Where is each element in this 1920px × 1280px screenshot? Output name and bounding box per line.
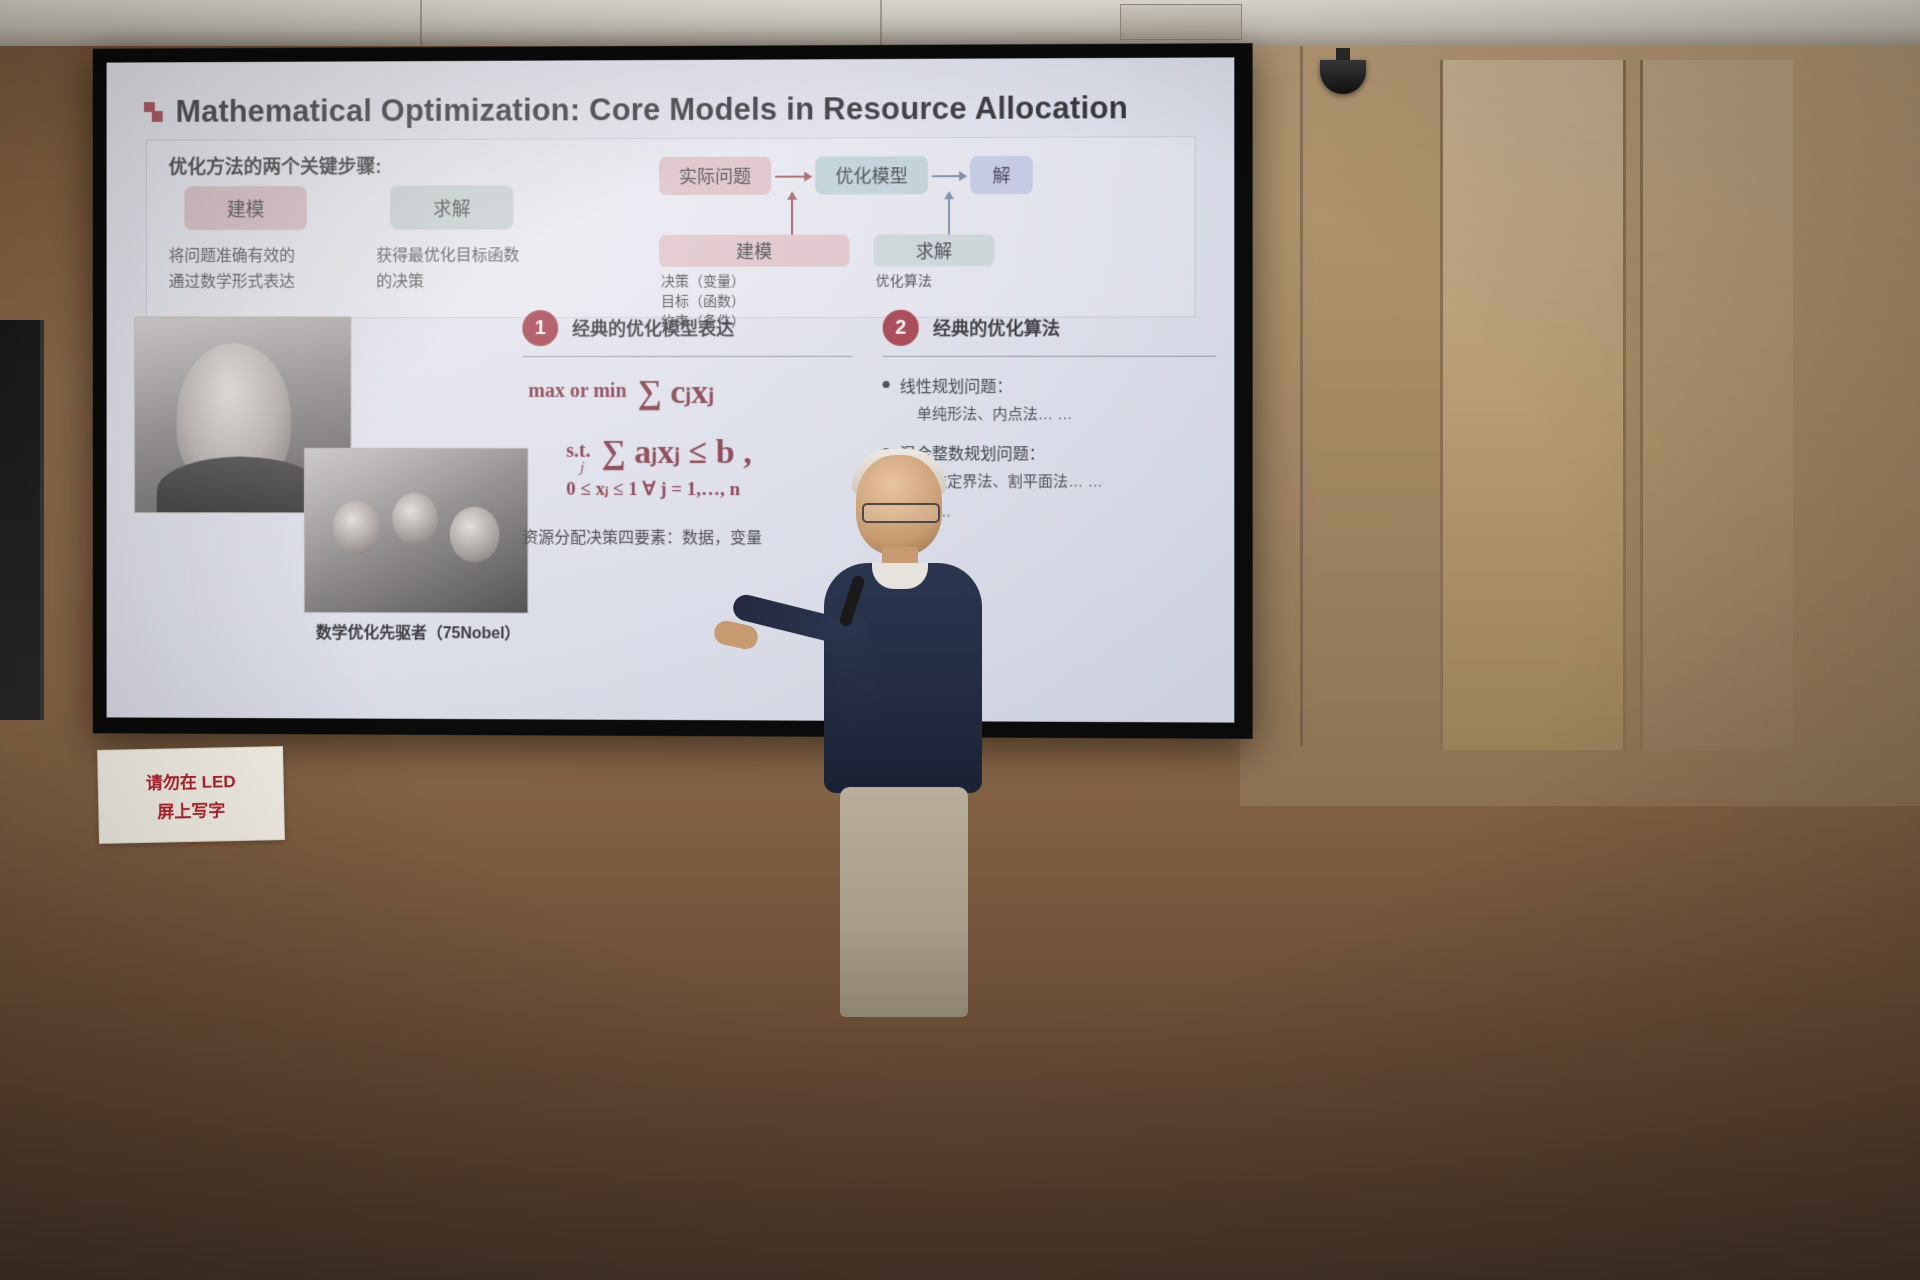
flow-node-real-problem: 实际问题: [659, 157, 771, 195]
slide-surface: Mathematical Optimization: Core Models i…: [107, 57, 1235, 722]
solving-description-line2: 的决策: [376, 269, 575, 295]
optimization-flow-diagram: 实际问题 优化模型 解 建模 求解 决策（变量） 目标（函数） 约束（条件）: [651, 145, 1234, 312]
photo-person-head: [450, 507, 500, 563]
wall-seam: [1300, 46, 1303, 746]
section1-heading-row: 1 经典的优化模型表达: [522, 310, 852, 346]
door-panel[interactable]: [1440, 60, 1626, 750]
slide-title: Mathematical Optimization: Core Models i…: [176, 90, 1129, 130]
flow-solve-item: 优化算法: [876, 271, 932, 291]
key-steps-panel: 优化方法的两个关键步骤: 建模 求解 将问题准确有效的 通过数学形式表达 获得最…: [146, 136, 1196, 318]
algorithm-bullet-title: 线性规划问题：: [900, 373, 1013, 397]
flow-node-solve: 求解: [874, 234, 995, 266]
bullet-dot-icon: [883, 381, 890, 388]
ceiling-seam: [420, 0, 422, 46]
section2-heading: 经典的优化算法: [933, 315, 1060, 341]
ceiling: [0, 0, 1920, 46]
section1-heading: 经典的优化模型表达: [572, 315, 734, 341]
flow-node-build: 建模: [659, 235, 849, 267]
modeling-description-line2: 通过数学形式表达: [169, 270, 357, 296]
key-steps-heading: 优化方法的两个关键步骤:: [169, 152, 382, 180]
title-bullet-icon: [144, 102, 162, 122]
algorithm-bullet-detail: 单纯形法、内点法… …: [917, 403, 1216, 424]
four-elements-text: 资源分配决策四要素：数据，变量: [522, 524, 762, 548]
flow-node-solution: 解: [970, 156, 1033, 194]
solving-description-line1: 获得最优化目标函数: [376, 243, 575, 269]
audience-foreground: [0, 760, 1920, 1280]
flow-arrow-problem-to-model: [775, 176, 811, 178]
solving-description: 获得最优化目标函数 的决策: [376, 243, 575, 295]
formula-objective-label: max or min: [528, 380, 626, 402]
flow-node-optimization-model: 优化模型: [815, 156, 928, 194]
ceiling-vent: [1120, 4, 1242, 40]
door-panel-secondary[interactable]: [1640, 60, 1793, 750]
section1-divider: [522, 356, 852, 357]
algorithm-bullet: 线性规划问题：: [883, 373, 1216, 397]
flow-build-item: 决策（变量）: [661, 271, 745, 291]
presenter-glasses: [862, 503, 940, 523]
section-classic-model: 1 经典的优化模型表达 max or min ∑ cⱼxⱼ s.t. ∑ aⱼx…: [522, 310, 852, 357]
ceiling-seam: [880, 0, 882, 46]
chip-solving: 求解: [390, 185, 513, 229]
projection-screen: Mathematical Optimization: Core Models i…: [93, 43, 1253, 739]
section2-heading-row: 2 经典的优化算法: [883, 309, 1216, 345]
photo-caption: 数学优化先驱者（75Nobel）: [274, 619, 562, 644]
formula-sum-index: j: [580, 460, 584, 477]
flow-build-item: 目标（函数）: [661, 291, 745, 311]
flow-solve-items: 优化算法: [876, 271, 932, 291]
chip-modeling: 建模: [184, 186, 307, 230]
formula-constraint: s.t. ∑ aⱼxⱼ ≤ b ,: [566, 432, 758, 472]
modeling-description: 将问题准确有效的 通过数学形式表达: [169, 244, 357, 296]
left-wall-display: [0, 320, 44, 720]
group-photo-pioneers: [304, 448, 528, 614]
presentation-slide: Mathematical Optimization: Core Models i…: [107, 57, 1235, 722]
flow-arrow-build-up: [791, 193, 793, 237]
flow-arrow-solve-up: [948, 192, 950, 236]
formula-constraint-body: ∑ aⱼxⱼ ≤ b ,: [596, 434, 758, 471]
section2-number-badge: 2: [883, 310, 919, 346]
formula-bounds: 0 ≤ xⱼ ≤ 1 ∀ j = 1,…, n: [566, 478, 740, 501]
photo-person-head: [392, 493, 438, 545]
formula-objective: max or min ∑ cⱼxⱼ: [528, 372, 720, 412]
formula-constraint-label: s.t.: [566, 440, 590, 462]
section1-number-badge: 1: [522, 310, 558, 346]
modeling-description-line1: 将问题准确有效的: [169, 244, 357, 270]
slide-title-row: Mathematical Optimization: Core Models i…: [144, 90, 1204, 130]
lecture-room-photo: Mathematical Optimization: Core Models i…: [0, 0, 1920, 1280]
formula-objective-body: ∑ cⱼxⱼ: [632, 374, 721, 411]
photo-person-head: [333, 500, 381, 554]
section2-divider: [883, 356, 1216, 357]
flow-arrow-model-to-solution: [932, 175, 966, 177]
